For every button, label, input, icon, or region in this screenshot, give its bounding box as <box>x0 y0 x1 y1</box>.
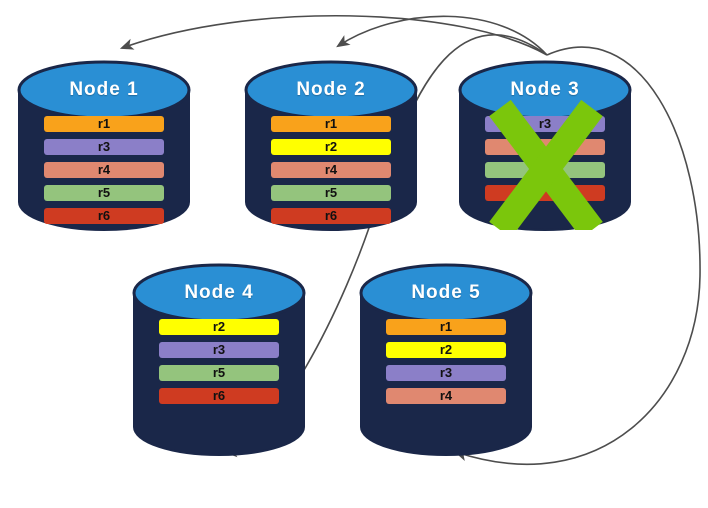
node-3-label: Node 3 <box>459 79 631 101</box>
node-4-replica-r3[interactable]: r3 <box>159 342 279 358</box>
node-4-replica-r2[interactable]: r2 <box>159 319 279 335</box>
node-2-replica-r1[interactable]: r1 <box>271 116 391 132</box>
node-5-replica-r4[interactable]: r4 <box>386 388 506 404</box>
node-2[interactable]: Node 2r1r2r4r5r6 <box>245 62 417 230</box>
node-5-label: Node 5 <box>360 282 532 304</box>
node-5-replica-r1[interactable]: r1 <box>386 319 506 335</box>
node-2-replica-r2[interactable]: r2 <box>271 139 391 155</box>
arrow-node3-to-node1 <box>122 16 547 55</box>
arrow-node3-to-node2 <box>338 16 547 55</box>
node-1-replica-r3[interactable]: r3 <box>44 139 164 155</box>
node-2-replica-r6[interactable]: r6 <box>271 208 391 224</box>
node-4[interactable]: Node 4r2r3r5r6 <box>133 265 305 455</box>
node-1-replica-r1[interactable]: r1 <box>44 116 164 132</box>
node-4-replica-r5[interactable]: r5 <box>159 365 279 381</box>
node-3-replica-slot-2[interactable] <box>485 139 605 155</box>
node-3-replica-slot-3[interactable] <box>485 162 605 178</box>
node-2-replica-r5[interactable]: r5 <box>271 185 391 201</box>
node-1-replica-r4[interactable]: r4 <box>44 162 164 178</box>
node-5-replica-r2[interactable]: r2 <box>386 342 506 358</box>
node-1-replica-r5[interactable]: r5 <box>44 185 164 201</box>
node-1[interactable]: Node 1r1r3r4r5r6 <box>18 62 190 230</box>
node-2-label: Node 2 <box>245 79 417 101</box>
node-1-replica-r6[interactable]: r6 <box>44 208 164 224</box>
node-3-replica-slot-4[interactable] <box>485 185 605 201</box>
node-5[interactable]: Node 5r1r2r3r4 <box>360 265 532 455</box>
node-3-replica-r3[interactable]: r3 <box>485 116 605 132</box>
node-2-replica-r4[interactable]: r4 <box>271 162 391 178</box>
node-4-label: Node 4 <box>133 282 305 304</box>
node-5-replica-r3[interactable]: r3 <box>386 365 506 381</box>
node-3[interactable]: Node 3r3 <box>459 62 631 230</box>
node-1-label: Node 1 <box>18 79 190 101</box>
diagram-canvas: Node 1r1r3r4r5r6Node 2r1r2r4r5r6Node 3r3… <box>0 0 708 508</box>
node-4-replica-r6[interactable]: r6 <box>159 388 279 404</box>
